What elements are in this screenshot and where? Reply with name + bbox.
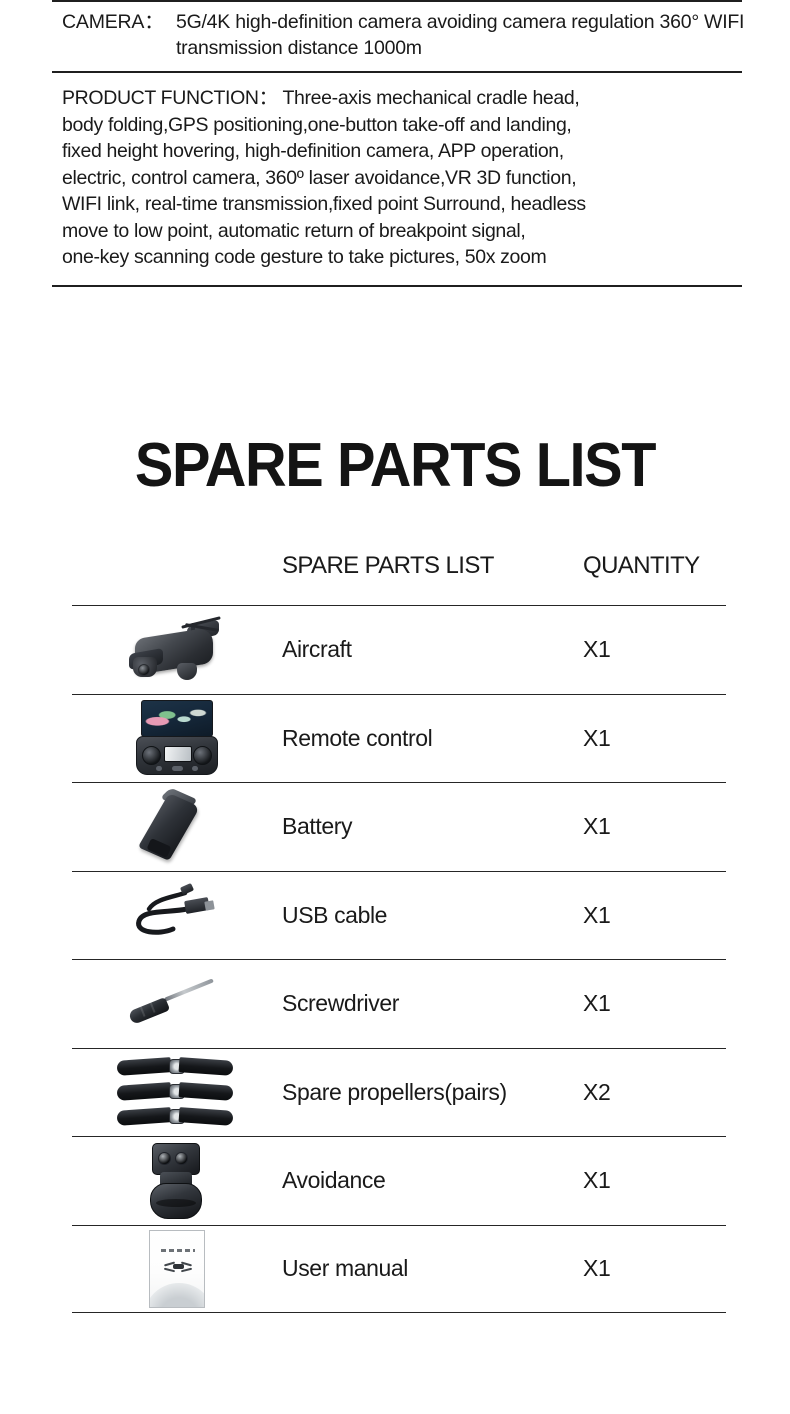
usb-cable-wire	[129, 883, 225, 947]
battery-icon	[138, 790, 216, 864]
part-quantity: X1	[583, 636, 726, 663]
user-manual-icon	[149, 1230, 205, 1308]
part-quantity: X1	[583, 1167, 726, 1194]
table-row: Spare propellers(pairs) X2	[72, 1048, 726, 1137]
specifications-section: CAMERA： 5G/4K high-definition camera avo…	[0, 0, 790, 287]
part-name: Remote control	[282, 725, 583, 752]
table-header-row: SPARE PARTS LIST QUANTITY	[72, 552, 726, 605]
part-name: USB cable	[282, 902, 583, 929]
part-quantity: X1	[583, 813, 726, 840]
part-name: Spare propellers(pairs)	[282, 1079, 583, 1106]
propellers-icon	[117, 1054, 237, 1130]
part-name: Screwdriver	[282, 990, 583, 1017]
part-image-cell	[72, 1049, 282, 1137]
part-image-cell	[72, 783, 282, 871]
part-quantity: X2	[583, 1079, 726, 1106]
part-name: User manual	[282, 1255, 583, 1282]
part-name: Battery	[282, 813, 583, 840]
table-row: User manual X1	[72, 1225, 726, 1314]
part-quantity: X1	[583, 725, 726, 752]
part-image-cell	[72, 606, 282, 694]
page-title: SPARE PARTS LIST	[28, 430, 763, 501]
camera-spec-row: CAMERA： 5G/4K high-definition camera avo…	[0, 2, 790, 71]
part-name: Aircraft	[282, 636, 583, 663]
table-row: USB cable X1	[72, 871, 726, 960]
part-image-cell	[72, 1226, 282, 1313]
table-row: Screwdriver X1	[72, 959, 726, 1048]
table-row: Remote control X1	[72, 694, 726, 783]
part-image-cell	[72, 1137, 282, 1225]
spare-parts-table: SPARE PARTS LIST QUANTITY Aircraft X1 Re…	[72, 552, 726, 1313]
part-quantity: X1	[583, 990, 726, 1017]
product-function-text: PRODUCT FUNCTION： Three-axis mechanical …	[0, 73, 790, 285]
table-row: Aircraft X1	[72, 605, 726, 694]
divider-bottom	[52, 285, 742, 287]
part-quantity: X1	[583, 902, 726, 929]
table-row: Avoidance X1	[72, 1136, 726, 1225]
part-image-cell	[72, 872, 282, 960]
part-quantity: X1	[583, 1255, 726, 1282]
part-name: Avoidance	[282, 1167, 583, 1194]
camera-spec-label: CAMERA：	[0, 10, 176, 35]
part-image-cell	[72, 695, 282, 783]
screwdriver-icon	[125, 976, 229, 1032]
usb-cable-icon	[129, 883, 225, 947]
table-header-quantity: QUANTITY	[583, 552, 726, 580]
drone-icon	[125, 615, 229, 685]
remote-control-icon	[134, 700, 220, 776]
camera-spec-value: 5G/4K high-definition camera avoiding ca…	[176, 10, 790, 61]
table-header-name: SPARE PARTS LIST	[282, 552, 583, 580]
part-image-cell	[72, 960, 282, 1048]
table-row: Battery X1	[72, 782, 726, 871]
avoidance-icon	[142, 1141, 212, 1221]
